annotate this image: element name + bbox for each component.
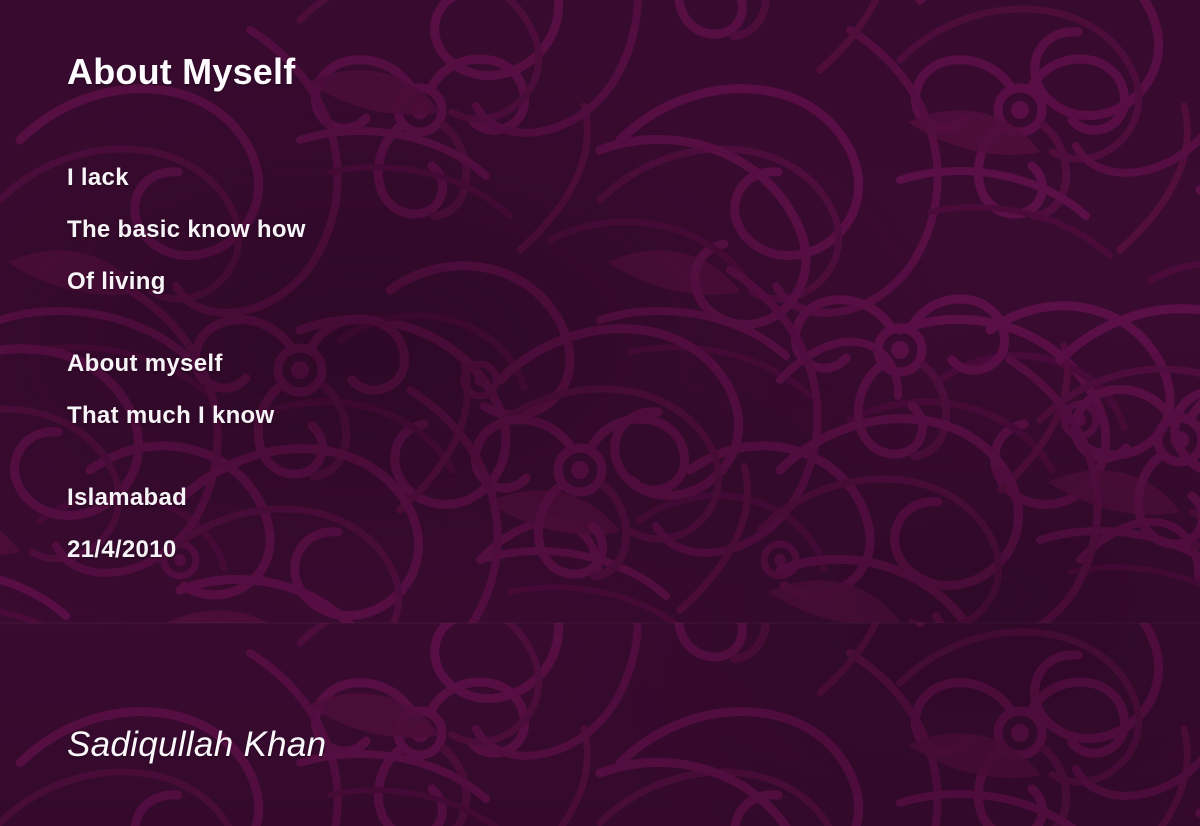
author-name: Sadiqullah Khan [67,725,326,765]
poem-line: The basic know how [67,204,1127,256]
stanza: I lack The basic know how Of living [67,152,1127,308]
poem-body: I lack The basic know how Of living Abou… [67,152,1127,576]
poem-date: 21/4/2010 [67,524,1127,576]
poem-location: Islamabad [67,472,1127,524]
poem-content: About Myself I lack The basic know how O… [67,0,1127,826]
poem-line: I lack [67,152,1127,204]
stanza-signature-block: Islamabad 21/4/2010 [67,472,1127,576]
stanza: About myself That much I know [67,338,1127,442]
page-title: About Myself [67,52,295,92]
poem-line: Of living [67,256,1127,308]
poem-line: That much I know [67,390,1127,442]
poem-line: About myself [67,338,1127,390]
poem-card: About Myself I lack The basic know how O… [0,0,1200,826]
